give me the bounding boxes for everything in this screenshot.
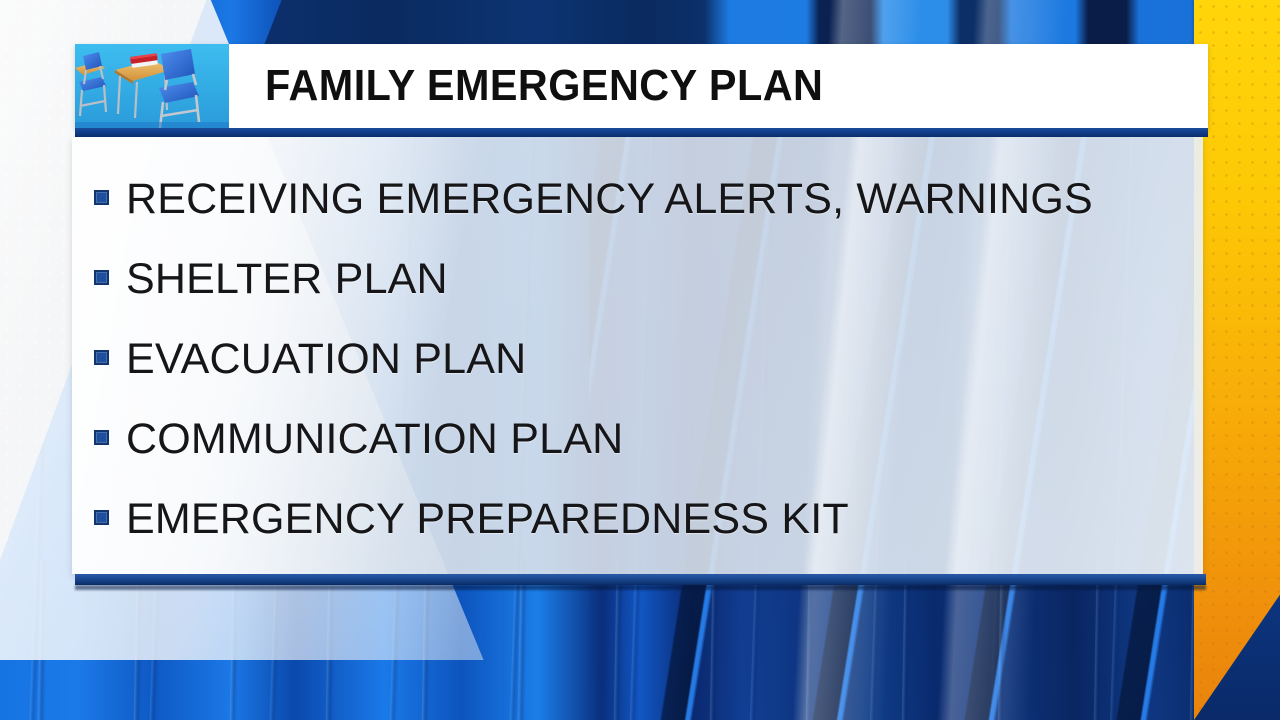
list-item: COMMUNICATION PLAN [94, 399, 1203, 479]
card-footer-shadow [75, 585, 1206, 590]
square-bullet-icon [94, 190, 109, 205]
card-header: FAMILY EMERGENCY PLAN [75, 44, 1208, 128]
card-footer-rule [75, 574, 1206, 585]
header-divider-rule [75, 128, 1208, 137]
graphic-card: FAMILY EMERGENCY PLAN RECEIVING EMERGENC… [72, 44, 1205, 582]
list-item-label: COMMUNICATION PLAN [126, 418, 623, 461]
square-bullet-icon [94, 430, 109, 445]
list-item-label: RECEIVING EMERGENCY ALERTS, WARNINGS [126, 178, 1093, 221]
broadcast-graphic-stage: FAMILY EMERGENCY PLAN RECEIVING EMERGENC… [0, 0, 1280, 720]
square-bullet-icon [94, 350, 109, 365]
list-item: EMERGENCY PREPAREDNESS KIT [94, 479, 1203, 559]
title-bar: FAMILY EMERGENCY PLAN [229, 44, 1208, 128]
list-item-label: EVACUATION PLAN [126, 338, 526, 381]
square-bullet-icon [94, 510, 109, 525]
list-item: EVACUATION PLAN [94, 319, 1203, 399]
list-item-label: EMERGENCY PREPAREDNESS KIT [126, 498, 849, 541]
square-bullet-icon [94, 270, 109, 285]
card-body: RECEIVING EMERGENCY ALERTS, WARNINGS SHE… [72, 137, 1203, 574]
page-title: FAMILY EMERGENCY PLAN [265, 64, 823, 108]
list-item: SHELTER PLAN [94, 239, 1203, 319]
list-item: RECEIVING EMERGENCY ALERTS, WARNINGS [94, 159, 1203, 239]
emergency-plan-list: RECEIVING EMERGENCY ALERTS, WARNINGS SHE… [72, 137, 1203, 559]
list-item-label: SHELTER PLAN [126, 258, 448, 301]
classroom-desks-photo-icon [75, 44, 229, 128]
